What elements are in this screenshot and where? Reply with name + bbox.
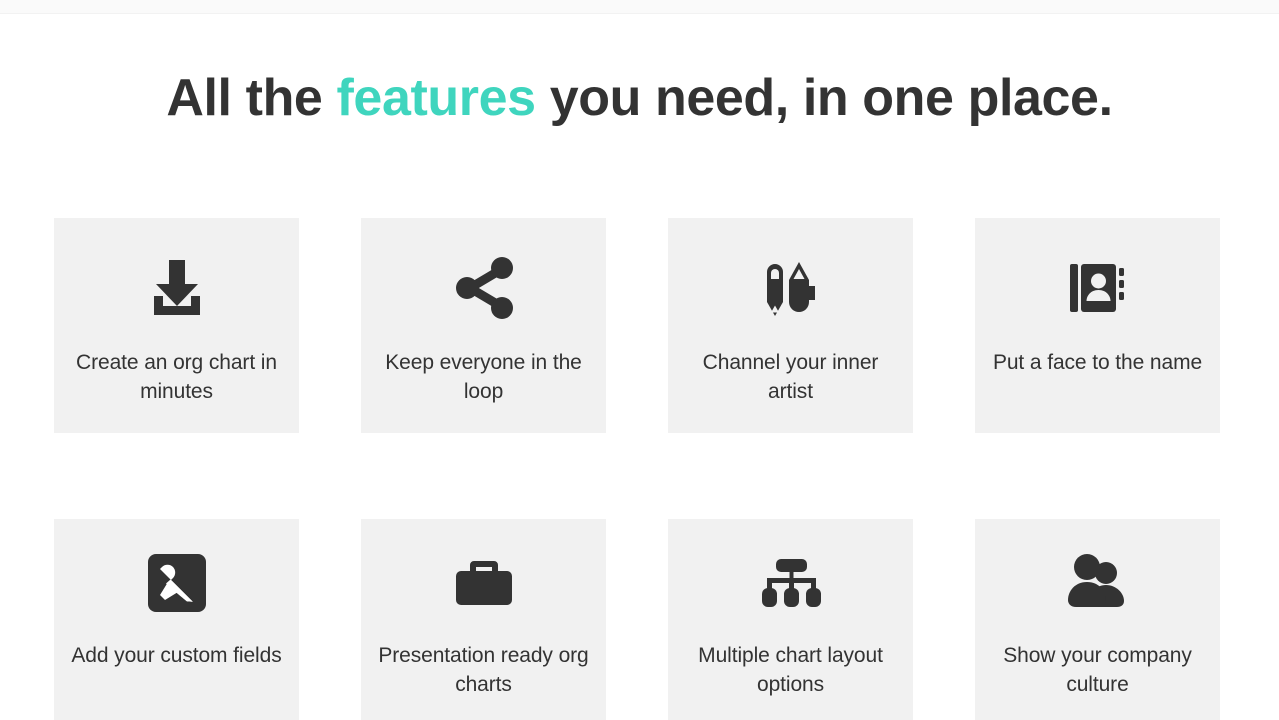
feature-label: Presentation ready org charts bbox=[375, 641, 593, 699]
section-divider bbox=[0, 0, 1279, 14]
org-chart-icon bbox=[755, 537, 827, 629]
feature-card-create-org-chart[interactable]: Create an org chart in minutes bbox=[54, 218, 299, 433]
feature-card-add-custom-fields[interactable]: Add your custom fields bbox=[54, 519, 299, 720]
feature-label: Keep everyone in the loop bbox=[375, 348, 593, 406]
feature-grid: Create an org chart in minutes Keep ever… bbox=[54, 218, 1221, 720]
feature-label: Add your custom fields bbox=[68, 641, 286, 670]
feature-card-channel-inner-artist[interactable]: Channel your inner artist bbox=[668, 218, 913, 433]
feature-label: Channel your inner artist bbox=[682, 348, 900, 406]
feature-label: Multiple chart layout options bbox=[682, 641, 900, 699]
feature-card-company-culture[interactable]: Show your company culture bbox=[975, 519, 1220, 720]
feature-card-put-face-to-name[interactable]: Put a face to the name bbox=[975, 218, 1220, 433]
feature-label: Put a face to the name bbox=[989, 348, 1207, 377]
features-section: All the features you need, in one place.… bbox=[0, 0, 1279, 720]
briefcase-icon bbox=[448, 537, 520, 629]
headline-accent-word: features bbox=[337, 69, 536, 127]
headline-text-before: All the bbox=[166, 69, 336, 127]
pen-pencil-icon bbox=[755, 240, 827, 336]
download-icon bbox=[141, 240, 213, 336]
edit-pencil-icon bbox=[141, 537, 213, 629]
feature-card-multiple-chart-layouts[interactable]: Multiple chart layout options bbox=[668, 519, 913, 720]
page-title: All the features you need, in one place. bbox=[0, 64, 1279, 132]
share-icon bbox=[448, 240, 520, 336]
feature-card-keep-everyone-in-loop[interactable]: Keep everyone in the loop bbox=[361, 218, 606, 433]
feature-card-presentation-ready[interactable]: Presentation ready org charts bbox=[361, 519, 606, 720]
people-icon bbox=[1062, 537, 1134, 629]
headline-text-after: you need, in one place. bbox=[536, 69, 1113, 127]
feature-label: Show your company culture bbox=[989, 641, 1207, 699]
feature-label: Create an org chart in minutes bbox=[68, 348, 286, 406]
address-book-icon bbox=[1062, 240, 1134, 336]
